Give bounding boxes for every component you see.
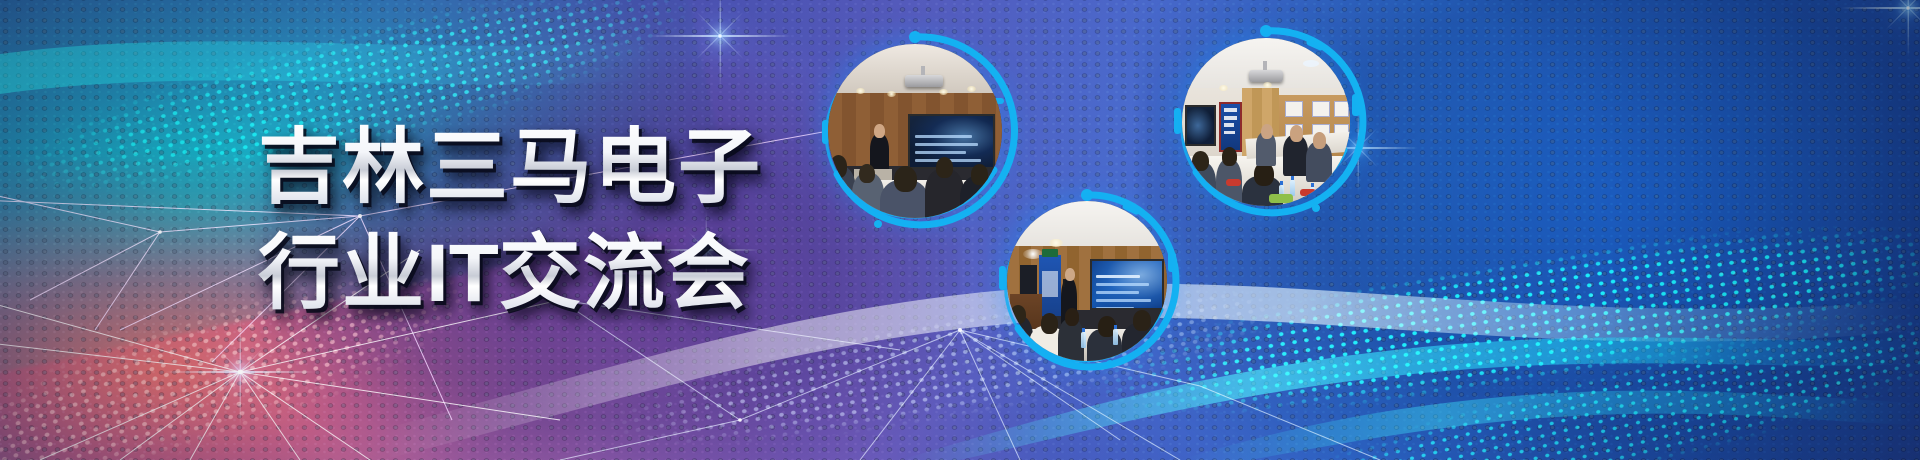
photo-1-image: [828, 44, 1002, 218]
headline-block: 吉林三马电子 行业IT交流会: [258, 118, 798, 324]
headline-line-2-part-1: 行业: [258, 228, 426, 319]
scene-training-room: [1007, 201, 1167, 361]
photo-circle-3: [992, 186, 1182, 376]
scene-conference-room: [1182, 38, 1350, 206]
headline-line-2-part-2: 交流会: [499, 228, 751, 319]
headline-line-2-latin: IT: [426, 228, 499, 319]
scene-lecture-room: [828, 44, 1002, 218]
photo-circle-2: [1166, 22, 1366, 222]
photo-circle-1: [812, 28, 1018, 234]
headline-line-2: 行业IT交流会: [258, 224, 798, 324]
photo-3-image: [1007, 201, 1167, 361]
photo-2-image: [1182, 38, 1350, 206]
event-banner: 吉林三马电子 行业IT交流会: [0, 0, 1920, 460]
headline-line-1: 吉林三马电子: [258, 118, 798, 218]
